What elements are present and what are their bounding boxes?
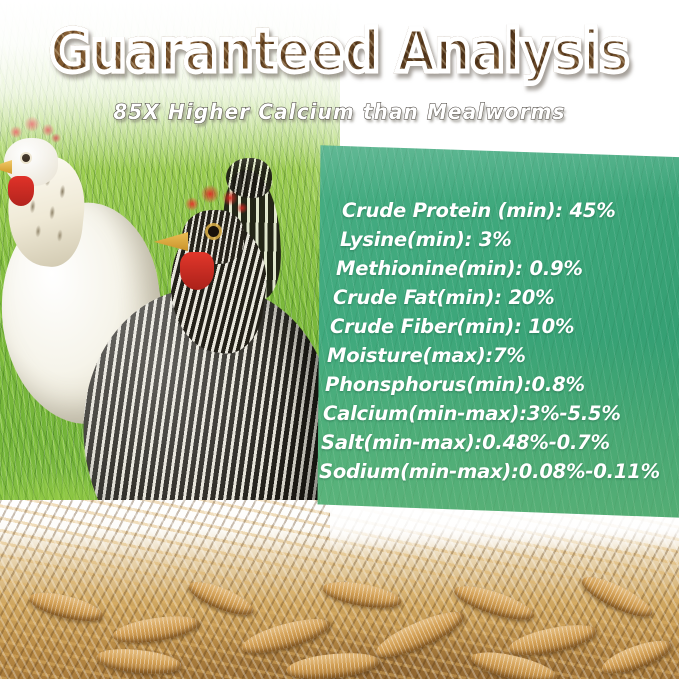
barred-chicken-beak [154, 232, 188, 251]
nutrition-row: Lysine(min): 3% [316, 225, 679, 254]
title-container: Guaranteed Analysis [0, 22, 679, 80]
nutrition-row: Moisture(max):7% [316, 341, 679, 370]
white-chicken-wattle [8, 176, 34, 206]
product-infographic: Guaranteed Analysis 85X Higher Calcium t… [0, 0, 679, 679]
nutrition-row: Methionine(min): 0.9% [316, 254, 679, 283]
nutrition-row: Crude Protein (min): 45% [316, 196, 679, 225]
nutrition-row: Calcium(min-max):3%-5.5% [316, 399, 679, 428]
page-title: Guaranteed Analysis [50, 22, 629, 80]
nutrition-row: Crude Fiber(min): 10% [316, 312, 679, 341]
nutrition-row: Sodium(min-max):0.08%-0.11% [316, 457, 679, 486]
nutrition-row: Crude Fat(min): 20% [316, 283, 679, 312]
nutrition-list: Crude Protein (min): 45% Lysine(min): 3%… [316, 196, 679, 486]
page-subtitle: 85X Higher Calcium than Mealworms [17, 100, 662, 124]
barred-chicken-eye [208, 226, 219, 237]
barred-chicken-wattle [180, 252, 214, 290]
barred-chicken-comb [180, 178, 250, 218]
nutrition-row: Phonsphorus(min):0.8% [316, 370, 679, 399]
nutrition-row: Salt(min-max):0.48%-0.7% [316, 428, 679, 457]
